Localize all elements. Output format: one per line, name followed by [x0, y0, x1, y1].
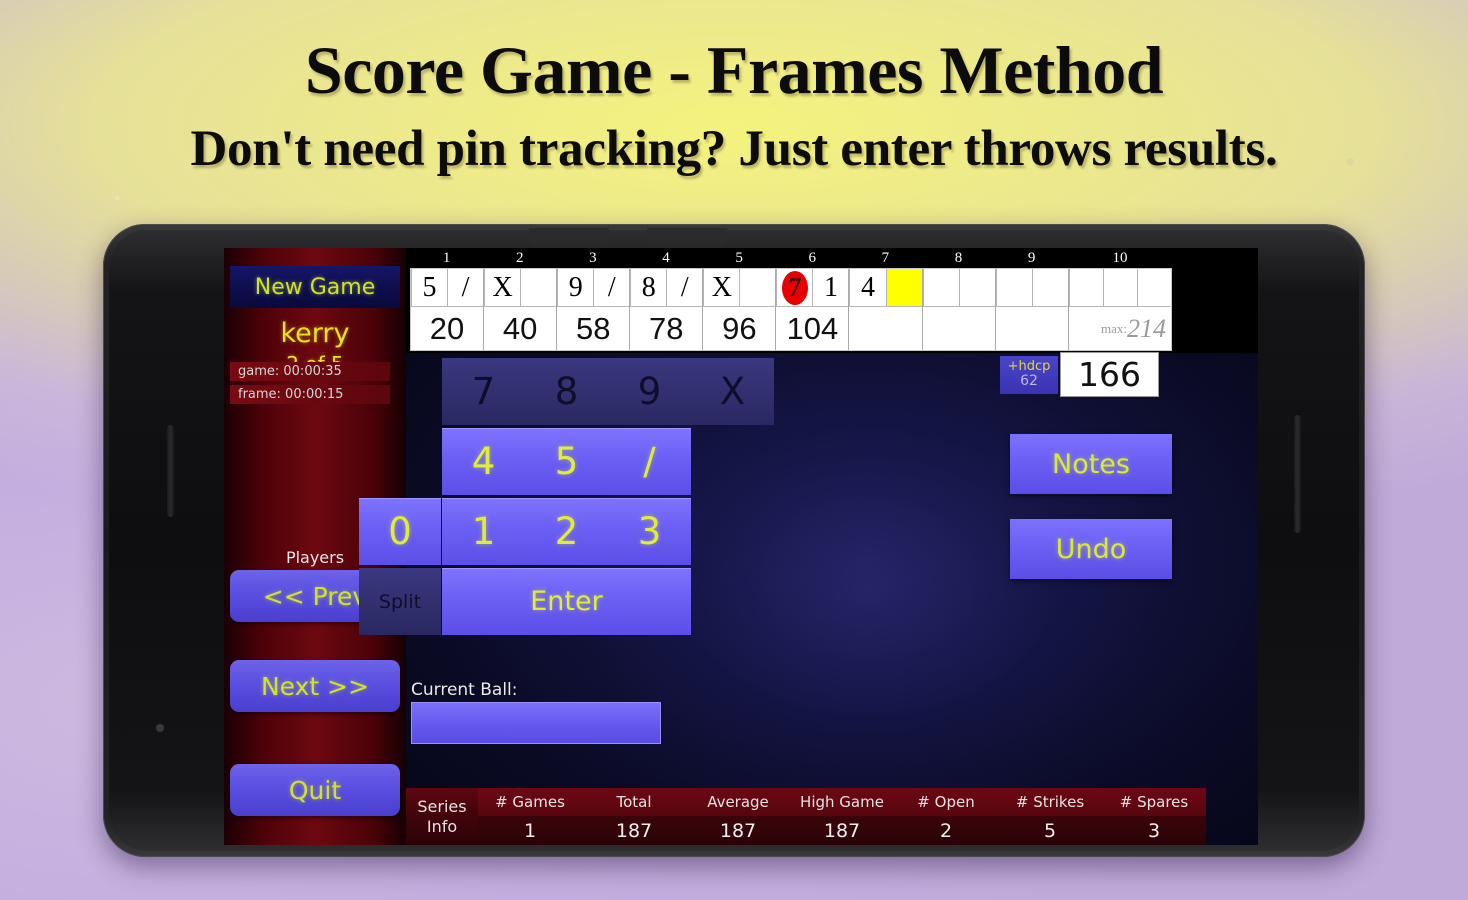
- current-player-name: kerry: [224, 318, 406, 349]
- frame-4[interactable]: 8/78: [630, 269, 703, 350]
- handicap-label: +hdcp: [1000, 360, 1058, 374]
- frames-grid: 5/20X409/588/78X96711044max:214: [410, 268, 1172, 351]
- frame-3[interactable]: 9/58: [557, 269, 630, 350]
- frame-number-7: 7: [849, 248, 922, 268]
- frame-number-row: 12345678910: [410, 248, 1172, 268]
- series-value-num-strikes: 5: [998, 816, 1102, 845]
- key-5[interactable]: 5: [525, 428, 608, 495]
- frame-number-9: 9: [995, 248, 1068, 268]
- frame-2-throw-1[interactable]: X: [484, 269, 520, 307]
- series-header-num-spares: # Spares: [1102, 788, 1206, 816]
- frame-9-score: [996, 307, 1068, 350]
- current-ball-label: Current Ball:: [411, 680, 518, 700]
- phone-bezel: New Game kerry 2 of 5 Players << Prev Ne…: [109, 230, 1359, 851]
- frame-7-throw-1[interactable]: 4: [849, 269, 885, 307]
- next-player-button[interactable]: Next >>: [230, 660, 400, 712]
- notes-button[interactable]: Notes: [1010, 434, 1172, 494]
- frame-1-score: 20: [411, 307, 483, 350]
- score-keypad: 789X45/0123SplitEnter: [354, 358, 699, 643]
- phone-speaker-right: [647, 228, 727, 244]
- frame-8-throws: [923, 269, 995, 307]
- frame-9-throw-1[interactable]: [996, 269, 1032, 307]
- frame-7-throws: 4: [849, 269, 921, 307]
- frame-6-throws: 71: [776, 269, 848, 307]
- key-4[interactable]: 4: [442, 428, 525, 495]
- frame-2-throw-2[interactable]: [520, 269, 556, 307]
- frame-7[interactable]: 4: [849, 269, 922, 350]
- frame-1-throw-2[interactable]: /: [447, 269, 483, 307]
- phone-power-button[interactable]: [1294, 415, 1301, 533]
- frame-number-10: 10: [1068, 248, 1172, 268]
- frame-9[interactable]: [996, 269, 1069, 350]
- key-7: 7: [442, 358, 525, 425]
- frame-8-throw-2[interactable]: [959, 269, 995, 307]
- phone-camera-dot: [156, 724, 164, 732]
- frame-10-throw-1[interactable]: [1069, 269, 1103, 307]
- key-0[interactable]: 0: [359, 498, 441, 565]
- frame-10-throws: [1069, 269, 1171, 307]
- series-value-num-spares: 3: [1102, 816, 1206, 845]
- frame-5-throw-1[interactable]: X: [703, 269, 739, 307]
- handicap-box: +hdcp 62: [1000, 356, 1058, 394]
- frame-6[interactable]: 71104: [776, 269, 849, 350]
- frame-10-score: max:214: [1069, 307, 1171, 350]
- key-spare[interactable]: /: [608, 428, 691, 495]
- frame-number-5: 5: [703, 248, 776, 268]
- frame-number-1: 1: [410, 248, 483, 268]
- frame-6-score: 104: [776, 307, 848, 350]
- phone-speaker-left: [529, 228, 609, 244]
- max-score-label: max:: [1101, 321, 1127, 337]
- series-header-num-strikes: # Strikes: [998, 788, 1102, 816]
- frame-3-throw-1[interactable]: 9: [557, 269, 593, 307]
- series-col-num-spares: # Spares3: [1102, 788, 1206, 845]
- series-col-num-open: # Open2: [894, 788, 998, 845]
- series-value-num-games: 1: [478, 816, 582, 845]
- frame-5-score: 96: [703, 307, 775, 350]
- frame-6-throw-1[interactable]: 7: [776, 269, 812, 307]
- key-enter[interactable]: Enter: [442, 568, 691, 635]
- split-indicator-icon: 7: [782, 271, 808, 305]
- series-col-total: Total187: [582, 788, 686, 845]
- key-split: Split: [359, 568, 441, 635]
- frame-2-score: 40: [484, 307, 556, 350]
- page-title: Score Game - Frames Method: [0, 0, 1468, 104]
- series-value-total: 187: [582, 816, 686, 845]
- max-score-value: 214: [1127, 314, 1166, 344]
- key-8: 8: [525, 358, 608, 425]
- frame-2[interactable]: X40: [484, 269, 557, 350]
- app-screen: New Game kerry 2 of 5 Players << Prev Ne…: [224, 248, 1258, 845]
- frame-number-6: 6: [776, 248, 849, 268]
- handicap-value: 62: [1000, 374, 1058, 389]
- series-header-total: Total: [582, 788, 686, 816]
- key-2[interactable]: 2: [525, 498, 608, 565]
- frame-2-throws: X: [484, 269, 556, 307]
- frame-5[interactable]: X96: [703, 269, 776, 350]
- frame-number-4: 4: [629, 248, 702, 268]
- total-score-box: 166: [1060, 352, 1159, 397]
- frame-7-score: [849, 307, 921, 350]
- series-value-num-open: 2: [894, 816, 998, 845]
- series-col-num-strikes: # Strikes5: [998, 788, 1102, 845]
- key-9: 9: [608, 358, 691, 425]
- series-info-columns: # Games1Total187Average187High Game187# …: [478, 788, 1206, 845]
- frame-4-score: 78: [630, 307, 702, 350]
- frame-10-throw-2[interactable]: [1103, 269, 1137, 307]
- phone-device-frame: New Game kerry 2 of 5 Players << Prev Ne…: [103, 224, 1365, 857]
- frame-1-throw-1[interactable]: 5: [411, 269, 447, 307]
- series-col-high-game: High Game187: [790, 788, 894, 845]
- frame-10-throw-3[interactable]: [1137, 269, 1171, 307]
- frame-3-throw-2[interactable]: /: [593, 269, 629, 307]
- frame-3-score: 58: [557, 307, 629, 350]
- key-1[interactable]: 1: [442, 498, 525, 565]
- series-title-line1: Series: [406, 797, 478, 817]
- frame-10[interactable]: max:214: [1069, 269, 1171, 350]
- phone-volume-button[interactable]: [167, 425, 174, 517]
- series-info-title: Series Info: [406, 788, 478, 845]
- key-strike: X: [691, 358, 774, 425]
- frame-4-throw-1[interactable]: 8: [630, 269, 666, 307]
- series-info-bar: Series Info # Games1Total187Average187Hi…: [406, 788, 1206, 845]
- series-value-average: 187: [686, 816, 790, 845]
- frame-5-throws: X: [703, 269, 775, 307]
- frame-number-8: 8: [922, 248, 995, 268]
- quit-button[interactable]: Quit: [230, 764, 400, 816]
- frame-4-throws: 8/: [630, 269, 702, 307]
- frame-5-throw-2[interactable]: [739, 269, 775, 307]
- frame-8-throw-1[interactable]: [923, 269, 959, 307]
- series-header-num-games: # Games: [478, 788, 582, 816]
- frame-9-throw-2[interactable]: [1032, 269, 1068, 307]
- new-game-button[interactable]: New Game: [230, 266, 400, 308]
- frame-8-score: [923, 307, 995, 350]
- frame-8[interactable]: [923, 269, 996, 350]
- frame-3-throws: 9/: [557, 269, 629, 307]
- series-header-average: Average: [686, 788, 790, 816]
- series-value-high-game: 187: [790, 816, 894, 845]
- frame-4-throw-2[interactable]: /: [666, 269, 702, 307]
- page-subtitle: Don't need pin tracking? Just enter thro…: [0, 104, 1468, 175]
- series-header-high-game: High Game: [790, 788, 894, 816]
- scoresheet: 12345678910 5/20X409/588/78X96711044max:…: [406, 248, 1258, 353]
- frame-9-throws: [996, 269, 1068, 307]
- frame-1-throws: 5/: [411, 269, 483, 307]
- promo-header: Score Game - Frames Method Don't need pi…: [0, 0, 1468, 205]
- series-title-line2: Info: [406, 817, 478, 837]
- frame-7-throw-2[interactable]: [886, 269, 922, 307]
- frame-6-throw-2[interactable]: 1: [812, 269, 848, 307]
- key-3[interactable]: 3: [608, 498, 691, 565]
- current-ball-select[interactable]: [411, 702, 661, 744]
- series-header-num-open: # Open: [894, 788, 998, 816]
- undo-button[interactable]: Undo: [1010, 519, 1172, 579]
- frame-1[interactable]: 5/20: [411, 269, 484, 350]
- series-col-average: Average187: [686, 788, 790, 845]
- frame-number-3: 3: [556, 248, 629, 268]
- series-col-num-games: # Games1: [478, 788, 582, 845]
- frame-number-2: 2: [483, 248, 556, 268]
